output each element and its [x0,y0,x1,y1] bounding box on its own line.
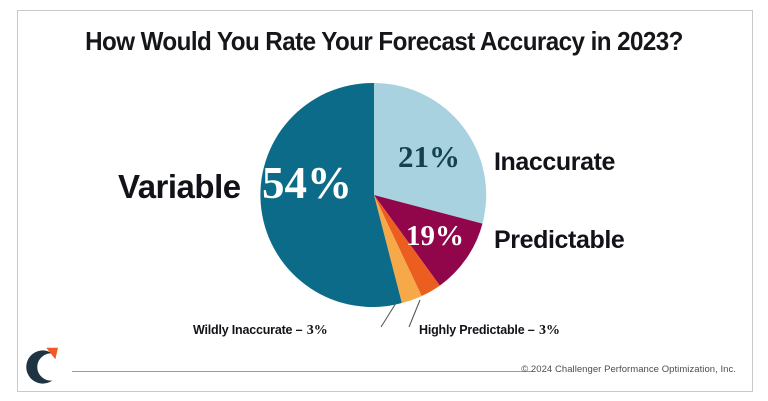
pie-callout-highly-predictable-value: 3% [539,323,560,338]
pie-value-inaccurate: 21% [398,141,460,172]
copyright-text: © 2024 Challenger Performance Optimizati… [521,364,736,375]
pie-value-predictable: 19% [406,222,464,251]
pie-callout-highly-predictable: Highly Predictable – 3% [419,322,560,338]
pie-chart-svg [0,0,768,401]
pie-label-predictable: Predictable [494,228,624,253]
pie-chart [0,0,768,401]
pie-callout-wildly-inaccurate-label: Wildly Inaccurate – [193,323,302,337]
leader-line-wildly-inaccurate [381,303,396,327]
pie-callout-highly-predictable-label: Highly Predictable – [419,323,534,337]
pie-label-inaccurate: Inaccurate [494,150,615,175]
challenger-logo-icon [22,346,62,388]
pie-callout-wildly-inaccurate-value: 3% [307,323,328,338]
pie-callout-wildly-inaccurate: Wildly Inaccurate – 3% [193,322,328,338]
footer-divider [72,371,532,372]
pie-label-variable: Variable [118,170,241,203]
slide-canvas: How Would You Rate Your Forecast Accurac… [0,0,768,401]
pie-value-variable: 54% [262,161,352,206]
